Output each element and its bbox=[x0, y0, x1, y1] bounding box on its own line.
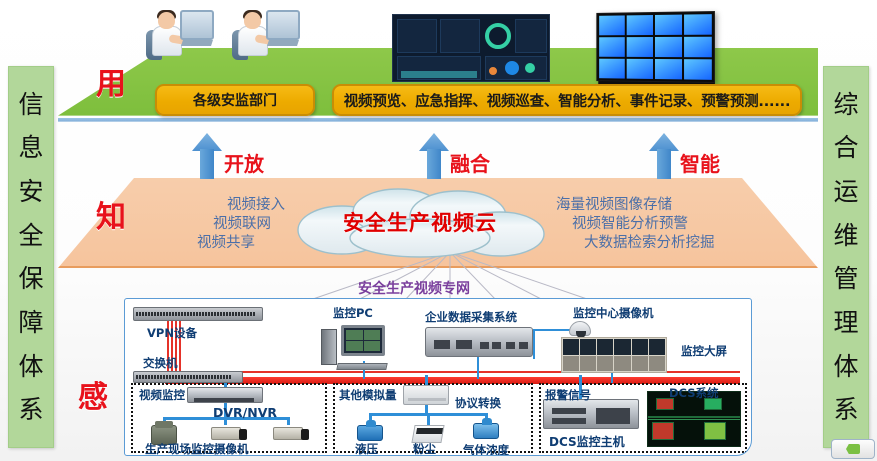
pc-display bbox=[341, 325, 385, 356]
wall-tile bbox=[655, 37, 682, 57]
pillar-right-char: 理 bbox=[833, 310, 858, 335]
arrow-open bbox=[192, 133, 222, 177]
switch-label: 交换机 bbox=[143, 355, 178, 371]
server-port bbox=[506, 342, 515, 349]
camera-link-v bbox=[533, 329, 535, 359]
arrow-fusion bbox=[419, 133, 449, 177]
cloud-left-item: 视频联网 bbox=[150, 215, 285, 234]
pillar-operations-management: 综 合 运 维 管 理 体 系 bbox=[823, 66, 869, 448]
sensor-drop bbox=[427, 413, 430, 425]
pillar-left-char: 保 bbox=[18, 266, 43, 291]
operator-workstation bbox=[152, 10, 216, 66]
wall-tile bbox=[599, 59, 625, 79]
pc-tower bbox=[321, 329, 337, 365]
center-camera-label: 监控中心摄像机 bbox=[573, 305, 654, 321]
monitor-pc-label: 监控PC bbox=[333, 305, 373, 321]
dashboard-donut bbox=[485, 23, 511, 49]
cloud-left-item: 视频共享 bbox=[150, 234, 285, 253]
pc-keyboard bbox=[336, 363, 387, 370]
cloud-left-item: 视频接入 bbox=[150, 196, 285, 215]
arrow-intelligent bbox=[649, 133, 679, 177]
converter-uplink bbox=[425, 375, 428, 385]
private-network-label: 安全生产视频专网 bbox=[358, 278, 470, 298]
dcs-bay bbox=[552, 408, 586, 414]
analog-signals-title: 其他模拟量 bbox=[339, 387, 397, 403]
wall-tile bbox=[655, 59, 682, 79]
pillar-left-char: 安 bbox=[18, 179, 43, 204]
arrow-stem bbox=[427, 149, 441, 179]
layer-glyph-use: 用 bbox=[96, 70, 126, 100]
dashboard-bubble bbox=[505, 61, 519, 75]
person-head bbox=[158, 12, 175, 29]
dashboard-heat-panel bbox=[515, 19, 547, 53]
wall-tile bbox=[627, 15, 653, 35]
monitor-pc-icon bbox=[321, 321, 401, 373]
cloud-right-item: 海量视频图像存储 bbox=[556, 196, 766, 215]
cloud-right-item: 大数据检索分析挖掘 bbox=[556, 234, 766, 253]
diagram-canvas: 各级安监部门 视频预览、应急指挥、视频巡查、智能分析、事件记录、预警预测....… bbox=[0, 0, 877, 461]
hydraulic-sensor-icon bbox=[357, 425, 383, 441]
big-screen-label: 监控大屏 bbox=[681, 343, 727, 359]
pillar-left-char: 息 bbox=[18, 135, 43, 160]
infrastructure-panel: VPN设备 交换机 监控PC 企业数据采集系 bbox=[124, 298, 752, 456]
layer-glyph-sense: 感 bbox=[78, 383, 108, 413]
server-port bbox=[492, 342, 501, 349]
wall-tile bbox=[655, 15, 682, 35]
converter-stripe bbox=[408, 398, 446, 401]
dashboard-bubble bbox=[489, 67, 497, 75]
dust-label: 粉尘 bbox=[413, 441, 436, 456]
server-port bbox=[480, 342, 489, 349]
data-collect-label: 企业数据采集系统 bbox=[425, 309, 517, 325]
pillar-left-char: 系 bbox=[18, 397, 43, 422]
wall-tile bbox=[599, 37, 625, 57]
big-screen-icon bbox=[561, 337, 667, 373]
dcs-bay bbox=[596, 408, 630, 424]
pillar-right-char: 运 bbox=[833, 179, 858, 204]
layer-glyph-know: 知 bbox=[96, 203, 126, 233]
dcs-system-label: DCS系统 bbox=[669, 385, 718, 401]
gas-sensor-icon bbox=[473, 423, 499, 439]
use-layer-edge bbox=[58, 118, 818, 124]
person-head bbox=[244, 12, 261, 29]
vpn-device-label: VPN设备 bbox=[147, 325, 197, 341]
pillar-information-security: 信 息 安 全 保 障 体 系 bbox=[8, 66, 54, 448]
box-camera-icon bbox=[273, 427, 303, 440]
arrow-label-intelligent: 智能 bbox=[680, 148, 720, 177]
bi-dashboard-thumbnail bbox=[392, 14, 550, 82]
pc-video-tiles bbox=[346, 330, 380, 351]
vpn-device-icon bbox=[133, 307, 263, 321]
center-camera-icon bbox=[569, 321, 591, 336]
dashboard-table-panel bbox=[440, 19, 480, 53]
switch-icon bbox=[133, 371, 243, 383]
box-camera-icon bbox=[211, 427, 241, 440]
wall-tile bbox=[684, 37, 712, 58]
pillar-right-char: 维 bbox=[833, 223, 858, 248]
video-cloud-shape: 安全生产视频云 bbox=[286, 186, 554, 258]
dcs-host-icon bbox=[543, 399, 639, 429]
pillar-left-char: 全 bbox=[18, 223, 43, 248]
dcs-unit bbox=[704, 422, 726, 440]
camera-link-h bbox=[533, 329, 571, 331]
dvr-nvr-label: DVR/NVR bbox=[213, 405, 277, 420]
dashboard-area-fill bbox=[401, 71, 477, 78]
server-port bbox=[456, 340, 472, 349]
arrow-stem bbox=[200, 149, 214, 179]
video-surveillance-title: 视频监控 bbox=[139, 387, 185, 403]
data-collect-server-icon bbox=[425, 327, 533, 357]
cloud-right-capabilities: 海量视频图像存储 视频智能分析预警 大数据检索分析挖掘 bbox=[556, 196, 766, 253]
pillar-right-char: 系 bbox=[833, 397, 858, 422]
hydraulic-label: 液压 bbox=[355, 441, 378, 456]
arrow-label-open: 开放 bbox=[224, 148, 264, 177]
pillar-right-char: 体 bbox=[833, 354, 858, 379]
dashboard-table-panel bbox=[397, 19, 437, 53]
dcs-pipeline bbox=[648, 416, 741, 418]
cloud-title: 安全生产视频云 bbox=[286, 186, 554, 258]
wall-tile bbox=[627, 37, 653, 57]
camera-drop bbox=[287, 417, 290, 425]
cloud-left-capabilities: 视频接入 视频联网 视频共享 bbox=[150, 196, 285, 253]
keyboard-shape bbox=[181, 40, 213, 46]
server-port bbox=[434, 340, 450, 349]
functions-box[interactable]: 视频预览、应急指挥、视频巡查、智能分析、事件记录、预警预测...... bbox=[332, 84, 802, 116]
desktop-monitor-icon bbox=[180, 10, 214, 40]
dcs-host-label: DCS监控主机 bbox=[549, 433, 625, 450]
big-screen-uplink bbox=[611, 373, 613, 383]
protocol-converter-icon bbox=[403, 385, 449, 405]
video-wall-display bbox=[596, 11, 715, 83]
department-box[interactable]: 各级安监部门 bbox=[155, 84, 315, 116]
pillar-left-char: 障 bbox=[18, 310, 43, 335]
pillar-left-char: 信 bbox=[18, 92, 43, 117]
server-port bbox=[519, 342, 528, 349]
dcs-unit bbox=[652, 422, 674, 440]
dcs-pipeline bbox=[648, 419, 741, 420]
pillar-right-char: 管 bbox=[833, 266, 858, 291]
dvr-front-bay bbox=[194, 398, 254, 402]
wall-tile bbox=[684, 14, 712, 35]
pillar-right-char: 综 bbox=[833, 92, 858, 117]
arrow-label-fusion: 融合 bbox=[450, 148, 490, 177]
dvr-nvr-icon bbox=[187, 387, 263, 403]
operator-workstation bbox=[238, 10, 302, 66]
site-camera-label: 生产现场监控摄像机 bbox=[145, 441, 249, 456]
wall-tile bbox=[627, 59, 653, 79]
protocol-converter-label: 协议转换 bbox=[455, 395, 501, 411]
pillar-right-char: 合 bbox=[833, 135, 858, 160]
pillar-left-char: 体 bbox=[18, 354, 43, 379]
wall-tile bbox=[599, 15, 625, 35]
wall-tile bbox=[684, 59, 712, 80]
data-collect-uplink bbox=[477, 357, 479, 379]
desktop-monitor-icon bbox=[266, 10, 300, 40]
dashboard-bubble bbox=[525, 63, 535, 73]
dcs-bay bbox=[552, 418, 586, 424]
cloud-right-item: 视频智能分析预警 bbox=[556, 215, 766, 234]
alarm-signal-label: 报警信号 bbox=[545, 387, 591, 403]
chip-arrow-icon bbox=[846, 444, 860, 454]
keyboard-shape bbox=[267, 40, 299, 46]
corner-chip[interactable] bbox=[831, 439, 875, 459]
arrow-stem bbox=[657, 149, 671, 179]
gas-label: 气体浓度 bbox=[463, 442, 509, 456]
